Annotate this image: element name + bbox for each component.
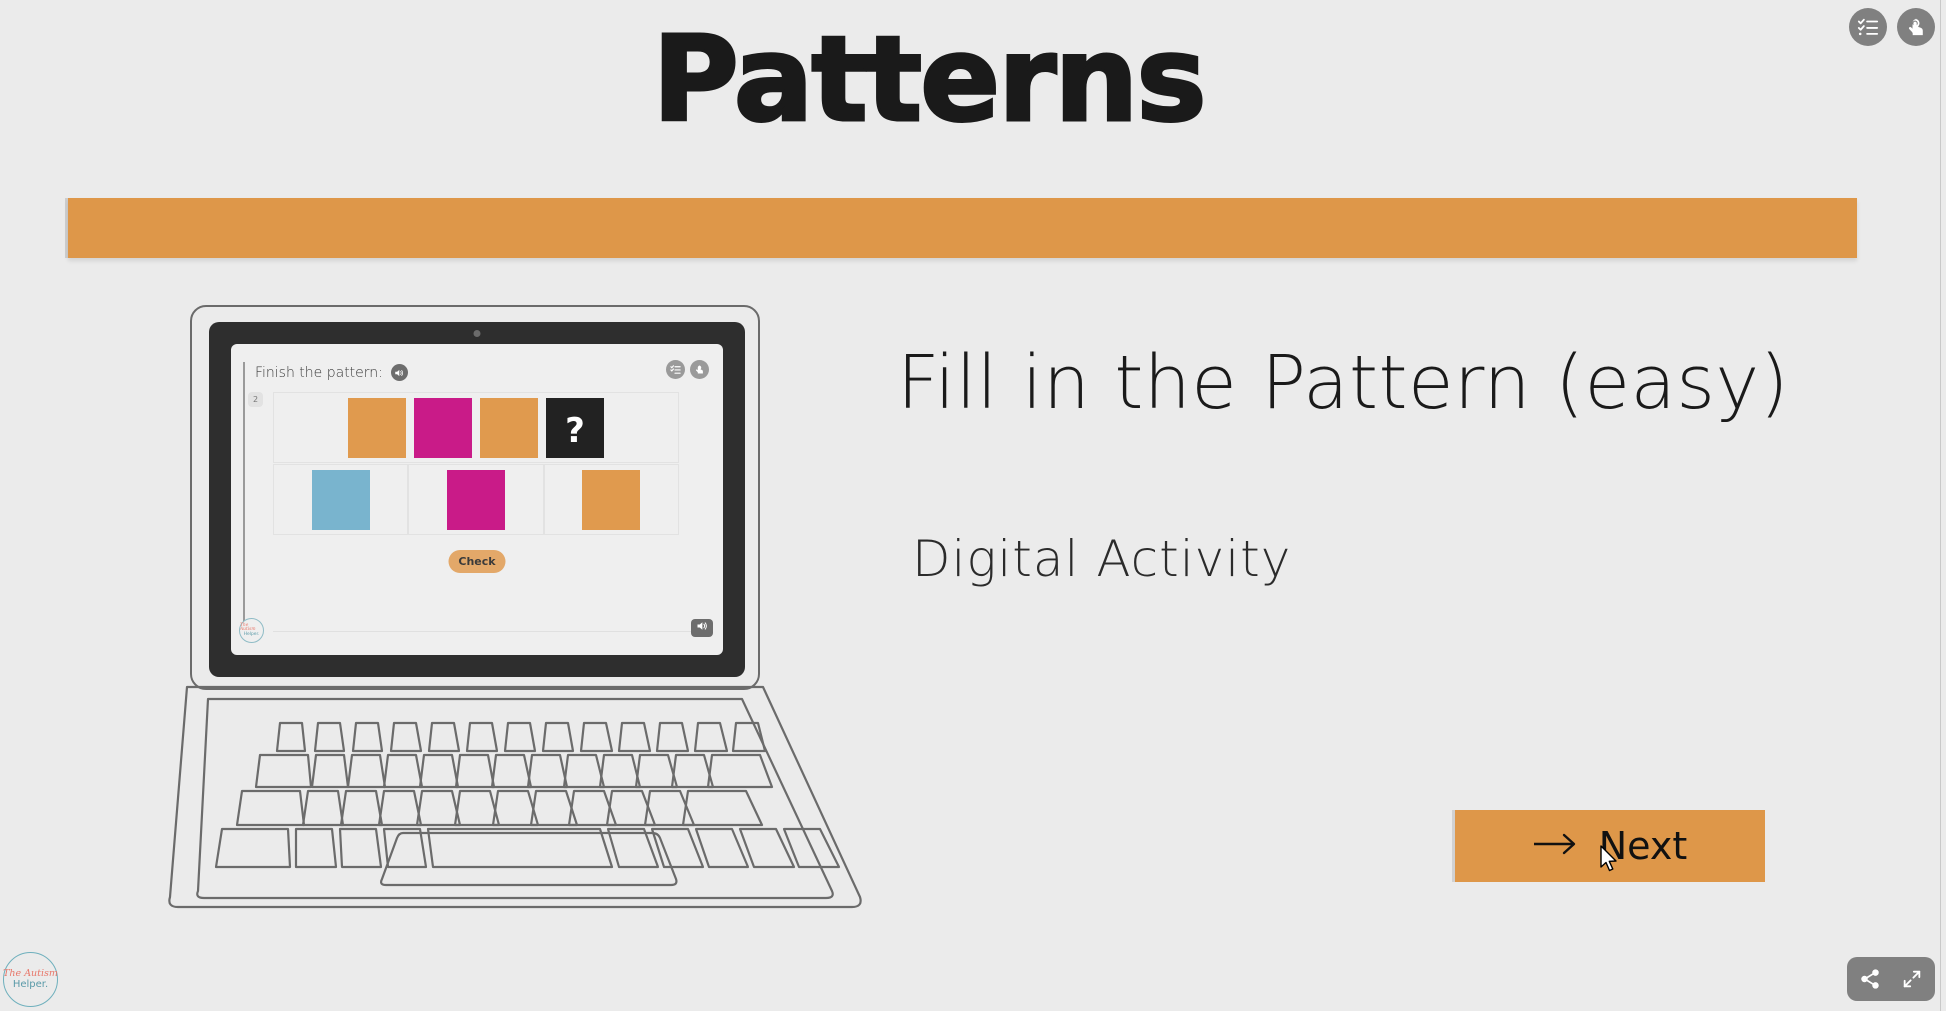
screen-left-rule (243, 362, 245, 634)
accent-banner (68, 198, 1857, 258)
choice-slot-1[interactable] (273, 464, 408, 535)
arrow-right-icon (1533, 831, 1579, 862)
choice-slot-2[interactable] (408, 464, 543, 535)
brand-line-1: The Autism (3, 969, 58, 979)
pattern-sequence-row: ? (273, 392, 679, 463)
magenta-choice-tile[interactable] (447, 470, 505, 530)
pattern-tile-2 (414, 398, 472, 458)
answer-choice-row (273, 464, 679, 535)
screen-toolbar (666, 360, 709, 379)
tap-gesture-button[interactable] (1897, 8, 1935, 46)
tap-gesture-icon (1905, 16, 1927, 38)
checklist-button[interactable] (1849, 8, 1887, 46)
blue-choice-tile[interactable] (312, 470, 370, 530)
choice-slot-3[interactable] (544, 464, 679, 535)
screen-audio-button[interactable] (691, 619, 713, 637)
slide-canvas: Patterns Fill in the Pattern (easy) Digi… (0, 0, 1946, 1011)
share-icon[interactable] (1859, 968, 1881, 990)
footer-toolbar (1847, 957, 1935, 1001)
speaker-icon (696, 619, 708, 637)
header-toolbar (1849, 8, 1935, 46)
laptop-screen: Finish the pattern: (231, 344, 723, 655)
screen-brand-line2: Helper. (244, 633, 260, 637)
screen-prompt: Finish the pattern: (255, 364, 408, 381)
orange-choice-tile[interactable] (582, 470, 640, 530)
laptop-base (160, 685, 870, 920)
checklist-icon (1857, 16, 1879, 38)
activity-subtitle: Fill in the Pattern (easy) (897, 340, 1789, 426)
webcam-dot (474, 330, 481, 337)
check-button[interactable]: Check (449, 550, 506, 573)
pattern-tile-question[interactable]: ? (546, 398, 604, 458)
brand-line-2: Helper. (13, 980, 48, 990)
screen-checklist-button[interactable] (666, 360, 685, 379)
screen-brand-logo: The Autism Helper. (239, 618, 264, 643)
screen-step-badge: 2 (248, 392, 263, 407)
laptop-bezel: Finish the pattern: (209, 322, 745, 677)
activity-type-label: Digital Activity (912, 530, 1291, 588)
page-title: Patterns (0, 18, 1857, 142)
screen-tap-gesture-button[interactable] (690, 360, 709, 379)
brand-logo: The Autism Helper. (3, 952, 58, 1007)
pattern-tile-1 (348, 398, 406, 458)
right-edge-divider (1940, 0, 1941, 1011)
laptop-lid: Finish the pattern: (190, 305, 760, 690)
speaker-icon[interactable] (391, 364, 408, 381)
next-button-label: Next (1599, 824, 1688, 868)
screen-footer-rule (273, 631, 705, 632)
fullscreen-expand-icon[interactable] (1901, 968, 1923, 990)
pattern-tile-3 (480, 398, 538, 458)
check-button-label: Check (458, 555, 495, 568)
screen-prompt-text: Finish the pattern: (255, 365, 383, 381)
laptop-illustration: Finish the pattern: (160, 305, 870, 920)
next-button[interactable]: Next (1455, 810, 1765, 882)
question-mark-label: ? (565, 414, 585, 458)
